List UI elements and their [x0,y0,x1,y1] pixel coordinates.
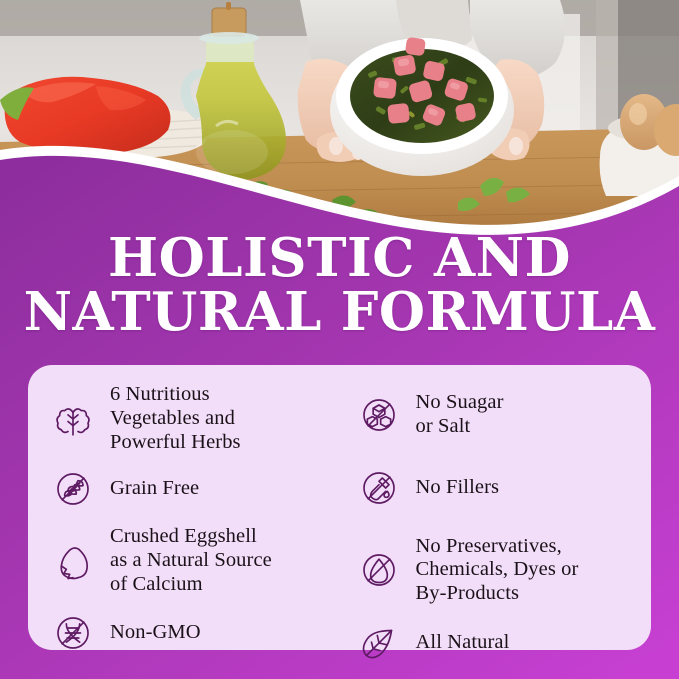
title-line-2: NATURAL FORMULA [0,287,679,339]
feature-column-right: No Suagar or Salt No Fillers [340,379,646,640]
cracked-eggshell-icon [50,538,96,584]
feature-item: All Natural [356,620,640,666]
feature-item: No Preservatives, Chemicals, Dyes or By-… [356,535,640,606]
feature-label: Crushed Eggshell as a Natural Source of … [110,525,272,596]
feature-item: No Suagar or Salt [356,391,640,439]
feature-item: Grain Free [50,466,336,512]
no-filler-dropper-icon [356,465,402,511]
feature-label: All Natural [416,631,510,655]
no-gmo-dna-icon [50,610,96,656]
feature-column-left: 6 Nutritious Vegetables and Powerful Her… [34,379,340,640]
page-title: HOLISTIC AND NATURAL FORMULA [0,233,679,339]
feature-item: Crushed Eggshell as a Natural Source of … [50,525,336,596]
feature-label: No Fillers [416,476,500,500]
feature-item: 6 Nutritious Vegetables and Powerful Her… [50,383,336,454]
no-droplet-icon [356,547,402,593]
feature-card: 6 Nutritious Vegetables and Powerful Her… [28,365,651,650]
feature-label: No Preservatives, Chemicals, Dyes or By-… [416,535,579,606]
lettuce-leaf-icon [50,396,96,442]
no-grain-icon [50,466,96,512]
title-line-1: HOLISTIC AND [0,233,679,285]
feature-item: Non-GMO [50,610,336,656]
product-infographic: HOLISTIC AND NATURAL FORMULA 6 Nutritiou… [0,0,679,679]
hero-photo [0,0,679,240]
feature-item: No Fillers [356,465,640,511]
no-sugar-cubes-icon [356,392,402,438]
feature-label: No Suagar or Salt [416,391,504,439]
feature-label: 6 Nutritious Vegetables and Powerful Her… [110,383,241,454]
leaf-icon [356,620,402,666]
hero-photo-illustration [0,0,679,240]
feature-label: Grain Free [110,477,199,501]
feature-label: Non-GMO [110,621,201,645]
